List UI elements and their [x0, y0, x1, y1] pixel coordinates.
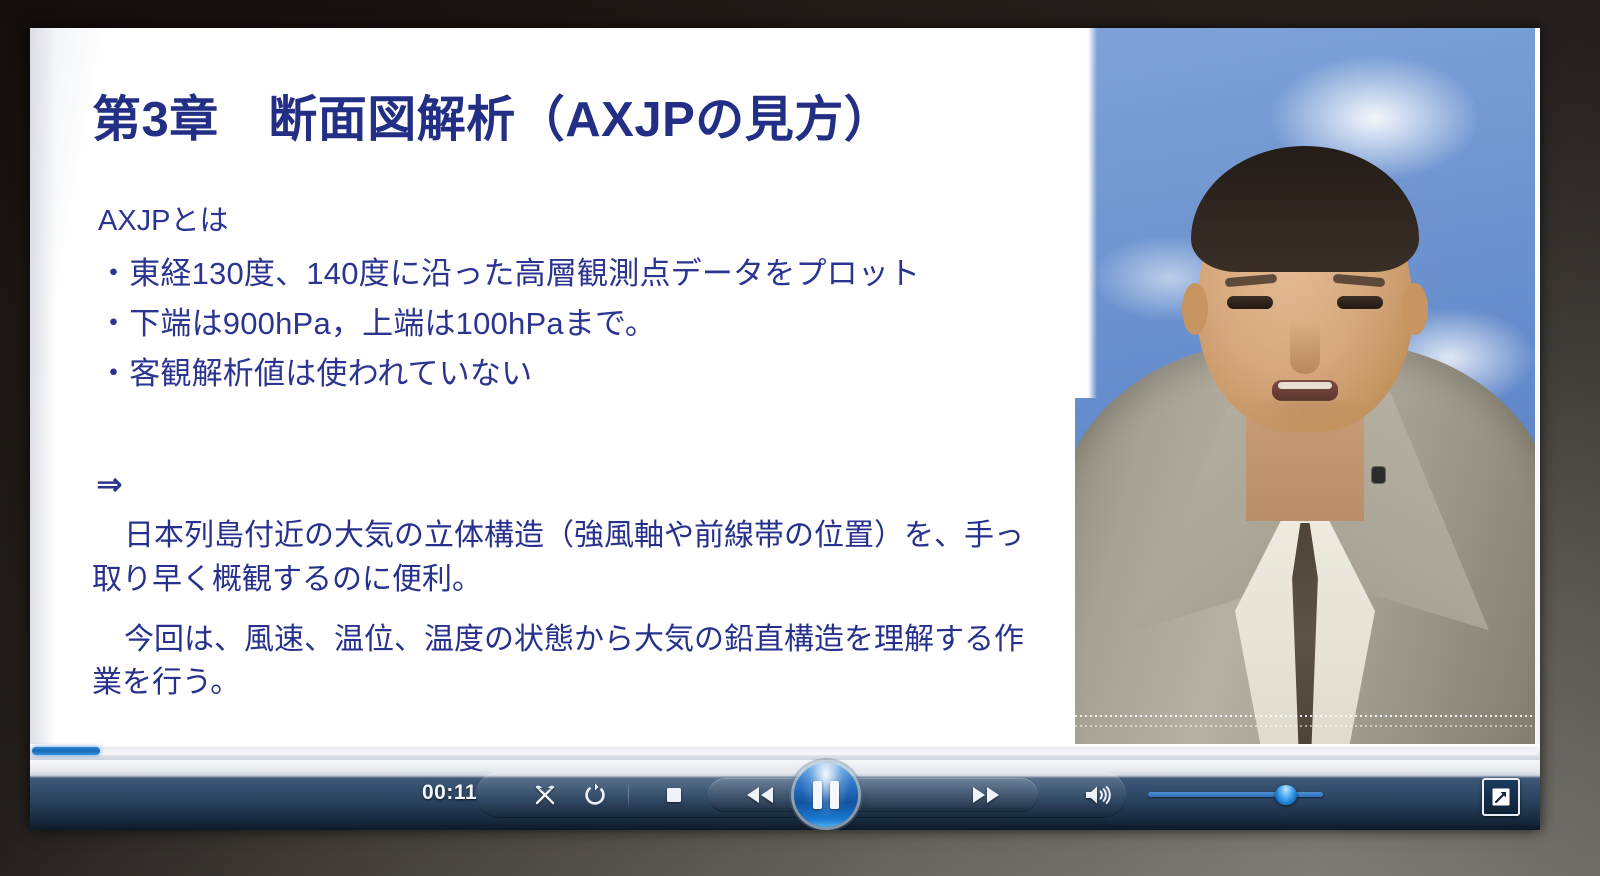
shuffle-icon[interactable]	[524, 772, 566, 818]
presenter-ear-right	[1402, 283, 1428, 335]
presenter-chin	[1240, 400, 1370, 444]
slide-bullet-2: ・下端は900hPa，上端は100hPaまで。	[98, 299, 1038, 349]
fast-forward-icon[interactable]	[958, 772, 1014, 818]
volume-slider[interactable]	[1148, 786, 1323, 804]
presenter-video[interactable]	[1075, 28, 1535, 773]
slide-bullet-3: ・客観解析値は使われていない	[98, 349, 1038, 399]
volume-icon[interactable]	[1074, 772, 1122, 818]
slide-bullet-1: ・東経130度、140度に沿った高層観測点データをプロット	[98, 249, 1038, 299]
transport-controls-group	[476, 772, 1126, 818]
screen-bezel: 第3章 断面図解析（AXJPの見方） AXJPとは ・東経130度、140度に沿…	[0, 0, 1600, 876]
rewind-icon[interactable]	[732, 772, 788, 818]
player-control-bar: 00:11	[30, 760, 1540, 830]
slide-arrow-symbol: ⇒	[96, 465, 123, 503]
presenter-eye-right	[1337, 296, 1383, 309]
seek-track[interactable]	[32, 747, 1538, 755]
repeat-icon[interactable]	[574, 772, 616, 818]
seek-bar[interactable]	[30, 744, 1540, 760]
presenter-lapel-mic	[1372, 467, 1385, 483]
video-scanline-artifact	[1075, 715, 1535, 717]
slide-paragraph-2: 今回は、風速、温位、温度の状態から大気の鉛直構造を理解する作業を行う。	[92, 618, 1052, 706]
presenter-hair	[1191, 146, 1419, 272]
slide-edge-sliver	[1075, 28, 1097, 398]
video-scanline-artifact	[1075, 725, 1535, 727]
stop-icon[interactable]	[652, 772, 696, 818]
presentation-slide: 第3章 断面図解析（AXJPの見方） AXJPとは ・東経130度、140度に沿…	[30, 28, 1540, 744]
media-player-window: 第3章 断面図解析（AXJPの見方） AXJPとは ・東経130度、140度に沿…	[30, 28, 1540, 830]
slide-lead-text: AXJPとは	[98, 198, 1038, 245]
controls-divider	[628, 782, 629, 808]
slide-body-list: AXJPとは ・東経130度、140度に沿った高層観測点データをプロット ・下端…	[98, 198, 1038, 400]
presenter-mouth	[1272, 380, 1338, 401]
presenter-eye-left	[1227, 296, 1273, 309]
seek-progress-fill	[32, 747, 100, 755]
volume-knob[interactable]	[1275, 785, 1297, 805]
pause-bar-right	[830, 781, 839, 809]
slide-paragraphs: 日本列島付近の大気の立体構造（強風軸や前線帯の位置）を、手っ取り早く概観するのに…	[92, 514, 1052, 721]
fullscreen-icon[interactable]	[1482, 778, 1520, 816]
presenter-ear-left	[1182, 283, 1208, 335]
pause-button[interactable]	[794, 763, 858, 827]
slide-paragraph-1: 日本列島付近の大気の立体構造（強風軸や前線帯の位置）を、手っ取り早く概観するのに…	[92, 514, 1052, 602]
presenter-nose	[1290, 320, 1320, 374]
elapsed-time-display: 00:11	[422, 781, 477, 805]
page-title: 第3章 断面図解析（AXJPの見方）	[92, 80, 893, 151]
pause-bar-left	[813, 781, 822, 809]
